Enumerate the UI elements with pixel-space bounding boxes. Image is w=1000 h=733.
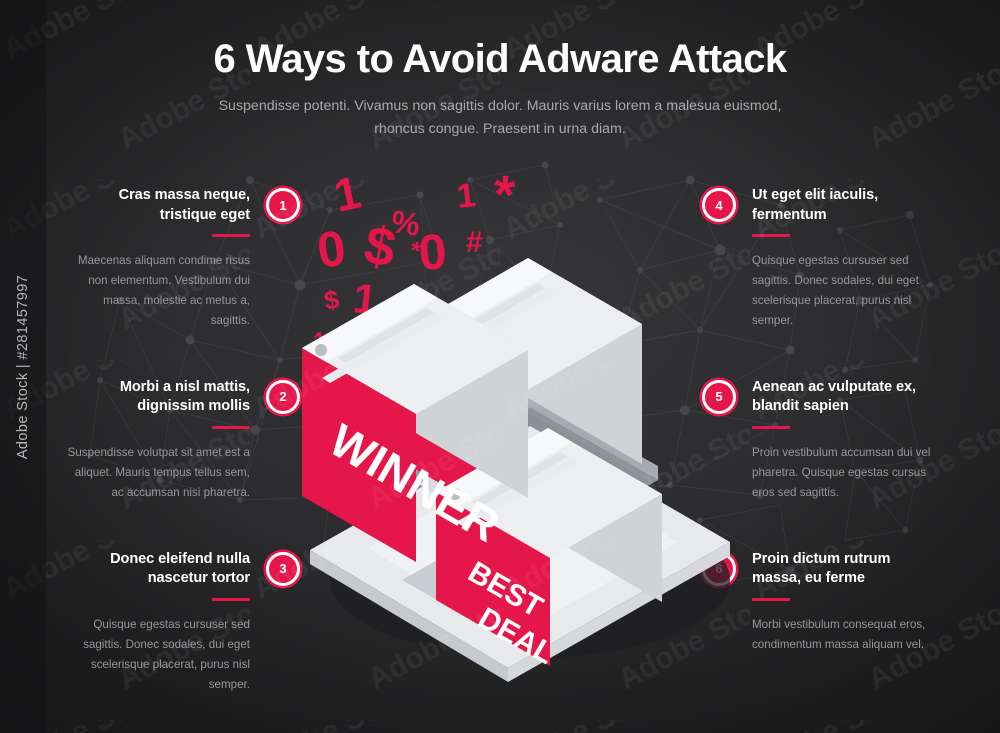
tiled-watermark-overlay: Adobe Stock Adobe Stock: [0, 0, 1000, 733]
side-watermark-text: Adobe Stock | #281457997: [15, 274, 31, 458]
side-watermark-bar: Adobe Stock | #281457997: [0, 0, 46, 733]
